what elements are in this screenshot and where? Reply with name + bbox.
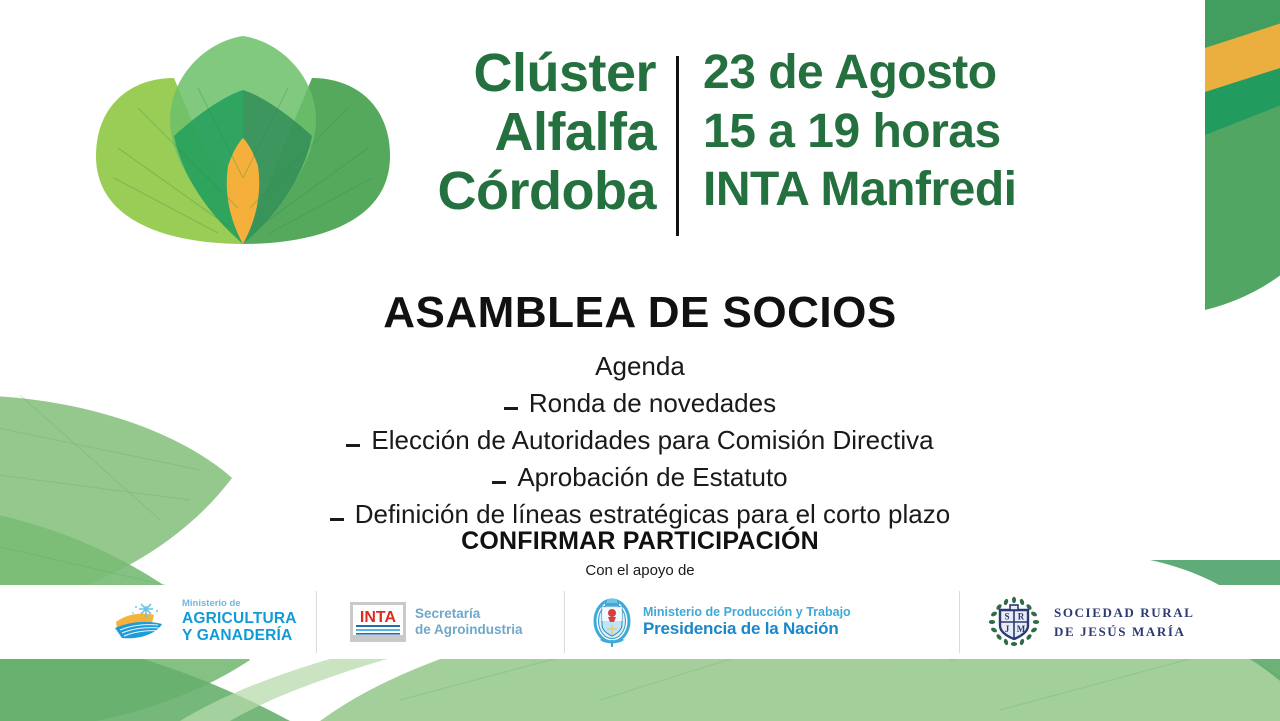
sponsor-line-1: Ministerio de Producción y Trabajo [643,605,851,619]
sponsor-line-2: DE JESÚS MARÍA [1054,622,1195,642]
sponsor-separator [959,591,960,653]
svg-text:J: J [1005,624,1010,634]
agenda-item-label: Aprobación de Estatuto [517,462,787,492]
cluster-alfalfa-leaf-logo [78,28,408,258]
field-windmill-icon [112,600,176,644]
confirm-participation-text: CONFIRMAR PARTICIPACIÓN [0,527,1280,556]
sponsor-inta-secretaria-agroindustria: INTA Secretaría de Agroindustria [349,585,554,659]
sponsor-separator [316,591,317,653]
svg-text:M: M [1017,624,1026,634]
sponsor-line-1: Secretaría [415,606,523,622]
bullet-dash-icon [492,481,506,484]
inta-mark-text: INTA [360,609,397,626]
sponsor-line-1: Ministerio de [182,599,297,610]
srjm-crest-icon: S R J M [986,596,1042,648]
event-venue: INTA Manfredi [703,161,1017,220]
poster-canvas: Clúster Alfalfa Córdoba 23 de Agosto 15 … [0,0,1280,721]
corner-leaf-top-right [1205,0,1280,310]
cluster-title-line-1: Clúster [408,44,656,103]
argentina-shield-icon [589,595,635,649]
bullet-dash-icon [346,444,360,447]
bullet-dash-icon [504,407,518,410]
agenda-item: Aprobación de Estatuto [0,459,1280,496]
agenda-item: Elección de Autoridades para Comisión Di… [0,422,1280,459]
sponsor-line-2: de Agroindustria [415,622,523,638]
sponsor-ministerio-produccion-trabajo: Ministerio de Producción y Trabajo Presi… [589,585,949,659]
agenda-item-label: Elección de Autoridades para Comisión Di… [371,425,933,455]
event-time: 15 a 19 horas [703,103,1017,162]
cluster-title: Clúster Alfalfa Córdoba [408,44,676,221]
cluster-title-line-2: Alfalfa [408,103,656,162]
event-details: 23 de Agosto 15 a 19 horas INTA Manfredi [679,44,1017,220]
inta-logo-icon: INTA [349,599,407,645]
agenda-item: Ronda de novedades [0,385,1280,422]
sponsor-line-1: SOCIEDAD RURAL [1054,603,1195,623]
support-label: Con el apoyo de [0,562,1280,579]
sponsor-line-2: AGRICULTURA [182,610,297,628]
agenda-item-label: Definición de líneas estratégicas para e… [355,499,950,529]
svg-text:S: S [1004,612,1009,622]
event-date: 23 de Agosto [703,44,1017,103]
sponsor-ministerio-agricultura-ganaderia: Ministerio de AGRICULTURA Y GANADERÍA [112,585,302,659]
page-title: ASAMBLEA DE SOCIOS [0,288,1280,338]
bullet-dash-icon [330,518,344,521]
sponsor-sociedad-rural-jesus-maria: S R J M SOCIEDAD RURAL DE JESÚS MARÍA [986,585,1236,659]
svg-text:R: R [1018,612,1025,622]
agenda-heading: Agenda [0,348,1280,385]
agenda-item-label: Ronda de novedades [529,388,776,418]
sponsor-separator [564,591,565,653]
title-block: Clúster Alfalfa Córdoba 23 de Agosto 15 … [408,44,1128,254]
agenda-section: Agenda Ronda de novedades Elección de Au… [0,348,1280,533]
sponsor-line-2: Presidencia de la Nación [643,619,851,638]
sponsor-band: Ministerio de AGRICULTURA Y GANADERÍA IN… [0,585,1280,659]
sponsor-line-3: Y GANADERÍA [182,627,297,645]
cluster-title-line-3: Córdoba [408,162,656,221]
